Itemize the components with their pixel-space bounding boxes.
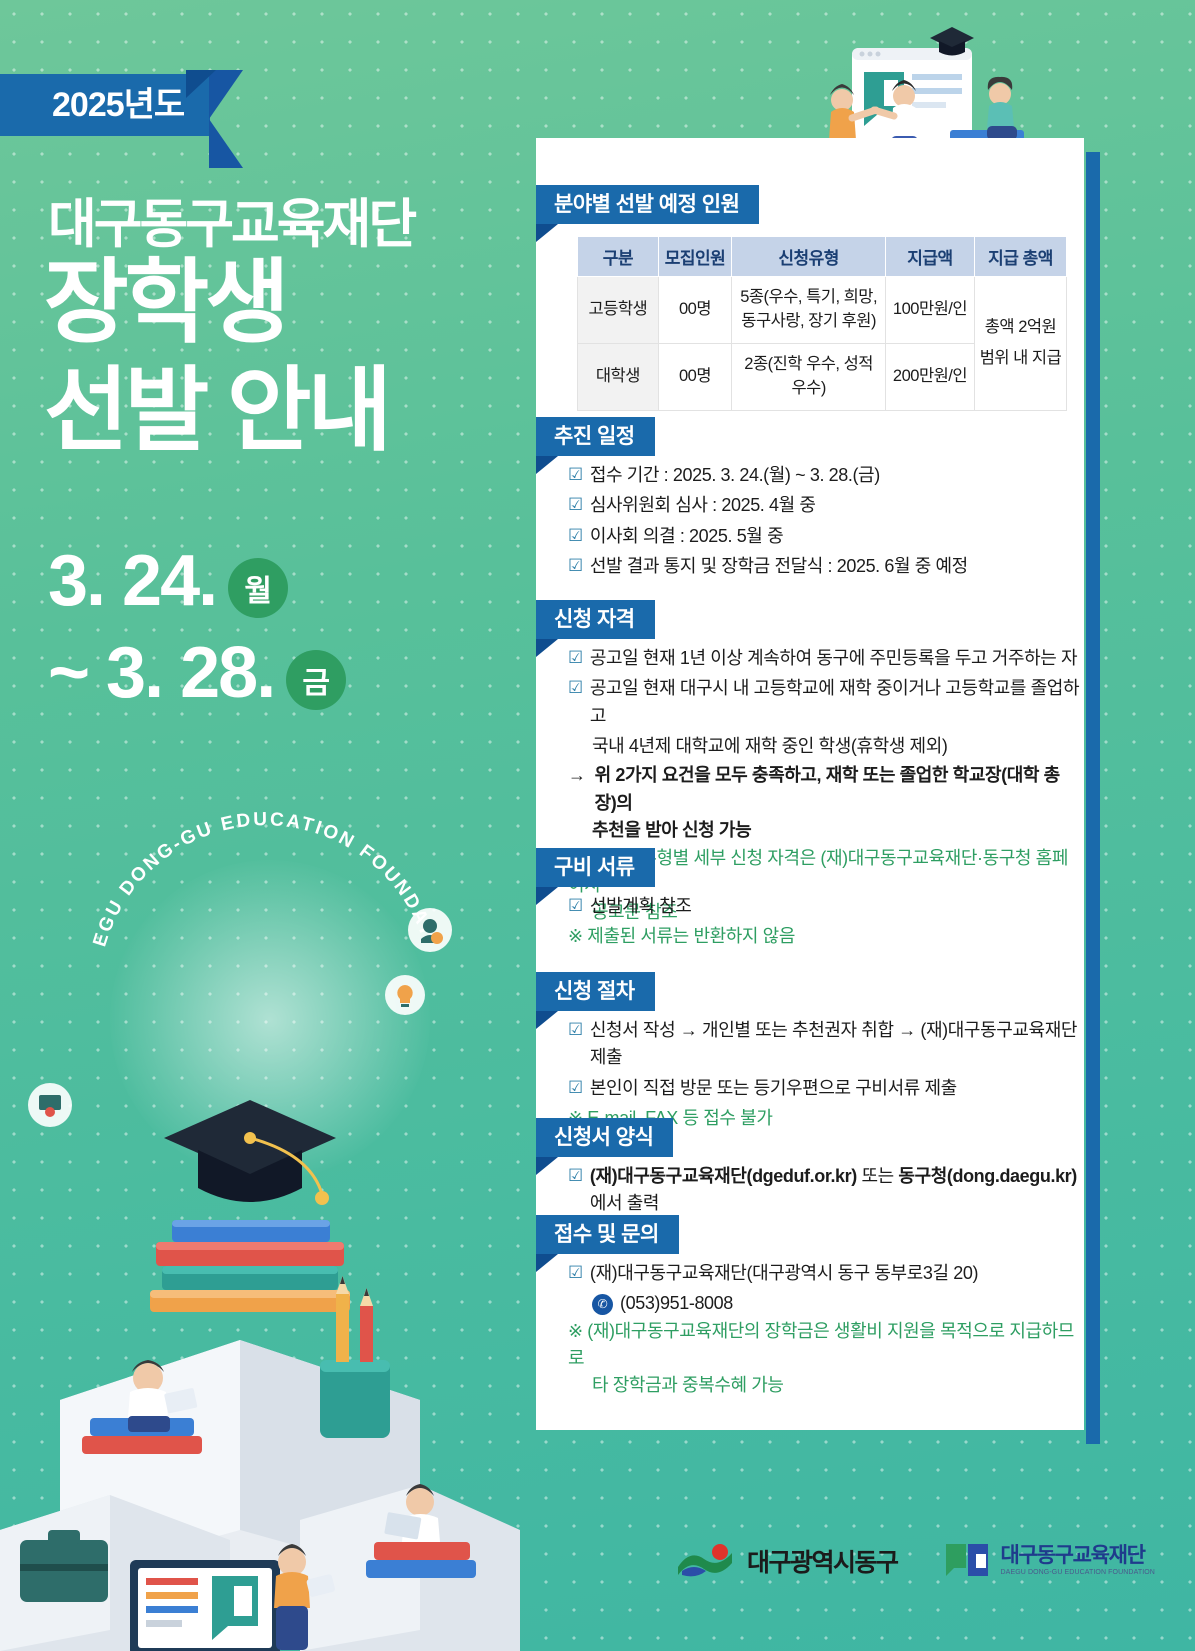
list-item: ☑선발 결과 통지 및 장학금 전달식 : 2025. 6월 중 예정 [568, 553, 1078, 580]
section-tag-documents-label: 구비 서류 [536, 848, 655, 887]
application-period: 3. 24. 월 ~ 3. 28. 금 [48, 535, 346, 719]
section-tag-schedule-label: 추진 일정 [536, 417, 655, 456]
page-title: 장학생 선발 안내 [44, 250, 388, 465]
form-tail: 에서 출력 [590, 1193, 659, 1213]
eligibility-arrow-text-1: 위 2가지 요건을 모두 충족하고, 재학 또는 졸업한 학교장(대학 총장)의 [595, 762, 1080, 817]
contact-note-1: ※ (재)대구동구교육재단의 장학금은 생활비 지원을 목적으로 지급하므로 [568, 1318, 1083, 1373]
phone-icon: ✆ [592, 1294, 613, 1315]
tag-notch-shape [536, 456, 558, 474]
table-row: 고등학생 00명 5종(우수, 특기, 희망, 동구사랑, 장기 후원) 100… [578, 277, 1067, 344]
check-icon: ☑ [568, 1260, 583, 1286]
check-icon: ☑ [568, 893, 583, 919]
check-icon: ☑ [568, 492, 583, 518]
cell-category-university: 대학생 [578, 343, 659, 410]
list-item: ☑공고일 현재 대구시 내 고등학교에 재학 중이거나 고등학교를 졸업하고 [568, 675, 1080, 730]
page-title-line2: 선발 안내 [44, 358, 388, 466]
year-ribbon-label: 2025년도 [0, 74, 210, 136]
cell-types-highschool: 5종(우수, 특기, 희망, 동구사랑, 장기 후원) [732, 277, 886, 344]
left-hero-column: 2025년도 대구동구교육재단 장학생 선발 안내 3. 24. 월 ~ 3. … [0, 0, 520, 1651]
form-link-district: 동구청(dong.daegu.kr) [898, 1166, 1076, 1186]
schedule-item-1: 심사위원회 심사 : 2025. 4월 중 [590, 492, 1078, 519]
th-types: 신청유형 [732, 237, 886, 277]
cell-amount-university: 200만원/인 [886, 343, 975, 410]
eligibility-item-1: 공고일 현재 대구시 내 고등학교에 재학 중이거나 고등학교를 졸업하고 [590, 675, 1080, 730]
date-end: ~ 3. 28. [48, 637, 274, 709]
form-conjunction: 또는 [857, 1166, 899, 1186]
arrow-icon: → [568, 762, 586, 789]
check-icon: ☑ [568, 553, 583, 579]
logo-foundation: 대구동구교육재단 DAEGU DONG-GU EDUCATION FOUNDAT… [944, 1540, 1155, 1582]
check-icon: ☑ [568, 523, 583, 549]
cell-quota-university: 00명 [658, 343, 732, 410]
eligibility-item-0: 공고일 현재 1년 이상 계속하여 동구에 주민등록을 두고 거주하는 자 [590, 645, 1080, 672]
quota-table: 구분 모집인원 신청유형 지급액 지급 총액 고등학생 00명 5종(우수, 특… [577, 236, 1067, 411]
documents-item-0: 선발계획 참조 [590, 893, 1078, 920]
contact-phone-row[interactable]: ✆ (053)951-8008 [568, 1290, 1083, 1317]
cell-category-highschool: 고등학생 [578, 277, 659, 344]
foundation-logo-icon [944, 1540, 990, 1582]
date-start-day-badge: 월 [228, 558, 288, 618]
check-icon: ☑ [568, 462, 583, 488]
contact-address: (재)대구동구교육재단(대구광역시 동구 동부로3길 20) [590, 1260, 1083, 1287]
section-tag-quota: 분야별 선발 예정 인원 [536, 185, 759, 242]
page-title-line1: 장학생 [44, 250, 388, 358]
list-item: ☑이사회 의결 : 2025. 5월 중 [568, 523, 1078, 550]
tag-notch-shape [536, 887, 558, 905]
section-tag-contact-label: 접수 및 문의 [536, 1215, 679, 1254]
eligibility-arrow-line: → 위 2가지 요건을 모두 충족하고, 재학 또는 졸업한 학교장(대학 총장… [568, 762, 1080, 817]
check-icon: ☑ [568, 675, 583, 701]
check-icon: ☑ [568, 1075, 583, 1101]
form-body: ☑ (재)대구동구교육재단(dgeduf.or.kr) 또는 동구청(dong.… [568, 1163, 1083, 1221]
schedule-body: ☑접수 기간 : 2025. 3. 24.(월) ~ 3. 28.(금) ☑심사… [568, 462, 1078, 583]
scholarship-poster: 2025년도 대구동구교육재단 장학생 선발 안내 3. 24. 월 ~ 3. … [0, 0, 1195, 1651]
cell-quota-highschool: 00명 [658, 277, 732, 344]
th-total: 지급 총액 [975, 237, 1067, 277]
documents-body: ☑선발계획 참조 ※ 제출된 서류는 반환하지 않음 [568, 893, 1078, 951]
list-item: ☑본인이 직접 방문 또는 등기우편으로 구비서류 제출 [568, 1075, 1083, 1102]
eligibility-item-1-continued: 국내 4년제 대학교에 재학 중인 학생(휴학생 제외) [568, 733, 1080, 760]
list-item: ☑심사위원회 심사 : 2025. 4월 중 [568, 492, 1078, 519]
donggu-district-logo-icon [676, 1541, 736, 1581]
tag-notch-shape [536, 1157, 558, 1175]
tag-notch-shape [536, 1254, 558, 1272]
logo-daegu-donggu-label: 대구광역시동구 [747, 1543, 898, 1579]
date-end-row: ~ 3. 28. 금 [48, 627, 346, 719]
tag-notch-shape [536, 639, 558, 657]
contact-note-2: 타 장학금과 중복수혜 가능 [568, 1372, 1083, 1399]
tag-notch-shape [536, 224, 558, 242]
cell-types-university: 2종(진학 우수, 성적 우수) [732, 343, 886, 410]
check-icon: ☑ [568, 1017, 583, 1043]
education-illustration [0, 840, 520, 1651]
documents-note: ※ 제출된 서류는 반환하지 않음 [568, 923, 1078, 950]
foundation-logo-text: 대구동구교육재단 DAEGU DONG-GU EDUCATION FOUNDAT… [1001, 1545, 1155, 1576]
panel-right-bar [1086, 152, 1100, 1444]
contact-phone-number: (053)951-8008 [620, 1290, 733, 1317]
cell-total-amount: 총액 2억원 범위 내 지급 [975, 277, 1067, 411]
section-tag-eligibility-label: 신청 자격 [536, 600, 655, 639]
cell-amount-highschool: 100만원/인 [886, 277, 975, 344]
schedule-item-3: 선발 결과 통지 및 장학금 전달식 : 2025. 6월 중 예정 [590, 553, 1078, 580]
procedure-body: ☑신청서 작성 → 개인별 또는 추천권자 취합 → (재)대구동구교육재단 제… [568, 1017, 1083, 1132]
section-tag-quota-label: 분야별 선발 예정 인원 [536, 185, 759, 224]
list-item: ☑ (재)대구동구교육재단(dgeduf.or.kr) 또는 동구청(dong.… [568, 1163, 1083, 1218]
schedule-item-2: 이사회 의결 : 2025. 5월 중 [590, 523, 1078, 550]
ribbon-notch-shape [186, 70, 216, 98]
footer-logos: 대구광역시동구 대구동구교육재단 DAEGU DONG-GU EDUCATION… [676, 1540, 1155, 1582]
date-start: 3. 24. [48, 545, 216, 617]
date-start-row: 3. 24. 월 [48, 535, 346, 627]
form-link-foundation: (재)대구동구교육재단(dgeduf.or.kr) [590, 1166, 857, 1186]
list-item: ☑공고일 현재 1년 이상 계속하여 동구에 주민등록을 두고 거주하는 자 [568, 645, 1080, 672]
table-header-row: 구분 모집인원 신청유형 지급액 지급 총액 [578, 237, 1067, 277]
th-amount: 지급액 [886, 237, 975, 277]
th-category: 구분 [578, 237, 659, 277]
logo-daegu-donggu: 대구광역시동구 [676, 1541, 898, 1581]
section-tag-procedure-label: 신청 절차 [536, 972, 655, 1011]
eligibility-arrow-text-2: 추천을 받아 신청 가능 [568, 817, 1080, 844]
check-icon: ☑ [568, 645, 583, 671]
th-quota: 모집인원 [658, 237, 732, 277]
list-item: ☑(재)대구동구교육재단(대구광역시 동구 동부로3길 20) [568, 1260, 1083, 1287]
foundation-name-en: DAEGU DONG-GU EDUCATION FOUNDATION [1001, 1569, 1155, 1576]
procedure-item-1: 본인이 직접 방문 또는 등기우편으로 구비서류 제출 [590, 1075, 1083, 1102]
section-tag-form-label: 신청서 양식 [536, 1118, 673, 1157]
schedule-item-0: 접수 기간 : 2025. 3. 24.(월) ~ 3. 28.(금) [590, 462, 1078, 489]
procedure-item-0: 신청서 작성 → 개인별 또는 추천권자 취합 → (재)대구동구교육재단 제출 [590, 1017, 1083, 1072]
form-item-line: (재)대구동구교육재단(dgeduf.or.kr) 또는 동구청(dong.da… [590, 1163, 1083, 1218]
organization-name: 대구동구교육재단 [48, 182, 414, 258]
date-end-day-badge: 금 [286, 650, 346, 710]
list-item: ☑신청서 작성 → 개인별 또는 추천권자 취합 → (재)대구동구교육재단 제… [568, 1017, 1083, 1072]
tag-notch-shape [536, 1011, 558, 1029]
list-item: ☑선발계획 참조 [568, 893, 1078, 920]
list-item: ☑접수 기간 : 2025. 3. 24.(월) ~ 3. 28.(금) [568, 462, 1078, 489]
foundation-name-ko: 대구동구교육재단 [1001, 1545, 1155, 1567]
contact-body: ☑(재)대구동구교육재단(대구광역시 동구 동부로3길 20) ✆ (053)9… [568, 1260, 1083, 1400]
check-icon: ☑ [568, 1163, 583, 1189]
